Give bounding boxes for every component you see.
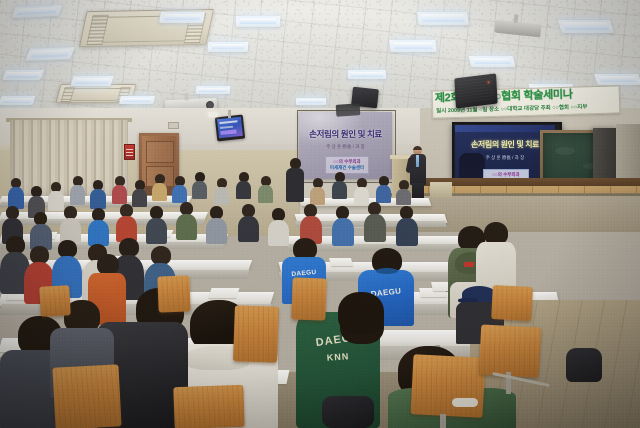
attendee (332, 172, 347, 198)
attendee (332, 206, 354, 244)
paper-sheet (329, 258, 353, 266)
attendee (132, 180, 147, 206)
attendee (376, 176, 391, 202)
attendee (176, 202, 197, 238)
attendee-head (338, 292, 384, 334)
attendee (396, 206, 418, 244)
attendee (192, 172, 207, 198)
attendee (152, 174, 167, 200)
wall-tv-lamp-icon (208, 112, 218, 117)
ceiling-light (348, 70, 387, 79)
presenter (410, 146, 427, 199)
projection-screen-subtitle: 주 상 훈 原長 / 과 장 (303, 144, 388, 150)
chair (39, 285, 71, 317)
attendee (396, 180, 411, 204)
jacket-tag (464, 262, 474, 267)
attendee (300, 204, 322, 242)
attendee (116, 204, 137, 240)
ceiling-light (236, 16, 280, 27)
attendee (258, 176, 273, 202)
chair (52, 364, 121, 428)
ceiling-light (558, 20, 614, 33)
attendee (30, 212, 52, 248)
attendee (214, 178, 229, 204)
projector-shadow (336, 103, 361, 117)
backpack (566, 348, 602, 382)
ceiling-light (25, 47, 75, 61)
attendee (310, 178, 325, 204)
jersey-collar (376, 268, 398, 274)
ceiling-light (70, 76, 113, 86)
attendee-standing (286, 158, 304, 202)
chair (157, 275, 190, 312)
attendee (88, 208, 109, 244)
stage-table (430, 182, 452, 198)
ceiling-light (296, 98, 326, 105)
attendee (90, 180, 106, 208)
attendee (60, 206, 81, 242)
attendee (238, 204, 259, 240)
attendee (354, 178, 369, 204)
wall-tv-bracket (228, 110, 231, 118)
ceiling-light (119, 96, 155, 104)
chair (410, 354, 485, 418)
attendee (206, 206, 227, 242)
chair (479, 324, 542, 377)
ceiling-light (196, 86, 231, 94)
chair (491, 285, 533, 321)
ceiling-light (417, 12, 469, 25)
ceiling-light (2, 70, 44, 80)
paper-sheet (208, 288, 239, 298)
attendee (364, 202, 386, 240)
attendee (112, 176, 127, 203)
fire-notice-icon (124, 144, 135, 160)
wall-sign (168, 122, 179, 129)
attendee (70, 176, 85, 204)
ceiling-light (389, 40, 437, 52)
wall-tv-left-screen (217, 117, 243, 138)
attendee (146, 206, 167, 242)
floor-cable (452, 398, 478, 407)
projection-screen: 손저림의 원인 및 치료 주 상 훈 原長 / 과 장 ○○의 수부외과 미세재… (299, 112, 392, 179)
ceiling-light (159, 12, 205, 23)
lecture-hall-photo: 제2회 ○○○○○○협회 학술세미나 일시 2009년 11월 ○일 장소 ○○… (0, 0, 640, 428)
chair-leg (440, 414, 446, 428)
chair (173, 385, 244, 428)
ceiling-light (469, 56, 516, 67)
chair (291, 277, 326, 320)
attendee (8, 178, 24, 208)
chair (233, 305, 279, 363)
backpack (322, 396, 374, 428)
attendee (172, 176, 187, 202)
projection-logo-line2: 미세재건 수술센터 (326, 165, 368, 171)
attendee (236, 172, 251, 198)
projection-screen-title: 손저림의 원인 및 치료 (303, 128, 388, 140)
ceiling-light (594, 74, 640, 85)
pa-speaker-icon (454, 73, 497, 108)
ceiling-light (0, 96, 35, 105)
ceiling-light (208, 42, 249, 52)
